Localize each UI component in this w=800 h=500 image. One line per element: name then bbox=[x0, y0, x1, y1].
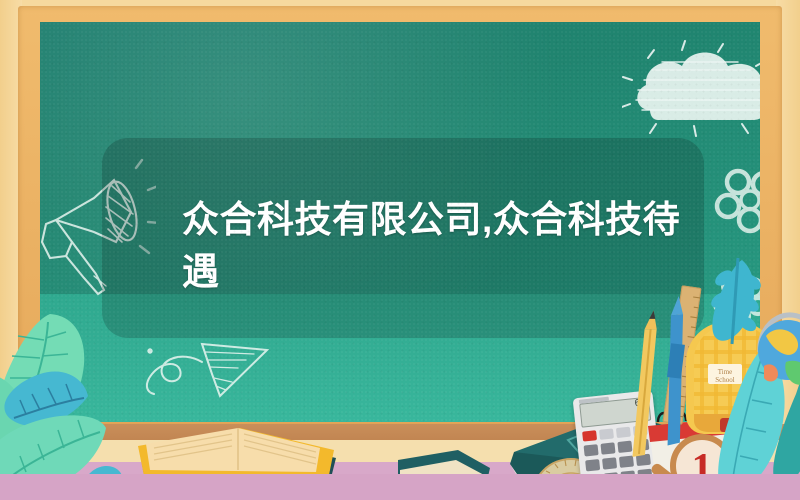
desk-pink-foreground bbox=[0, 474, 800, 500]
banner-canvas: 众合科技有限公司,众合科技待遇 bbox=[0, 0, 800, 500]
calculator-key[interactable] bbox=[602, 457, 617, 469]
calculator-key[interactable] bbox=[584, 444, 599, 456]
page-title: 众合科技有限公司,众合科技待遇 bbox=[182, 194, 682, 298]
flower-chalk-drawing-large bbox=[712, 162, 760, 240]
calculator-key-ac[interactable] bbox=[582, 430, 597, 441]
calculator-key-f1[interactable] bbox=[599, 428, 614, 439]
calculator-key[interactable] bbox=[585, 459, 600, 471]
globe bbox=[756, 292, 800, 412]
calculator-key[interactable] bbox=[600, 442, 615, 454]
